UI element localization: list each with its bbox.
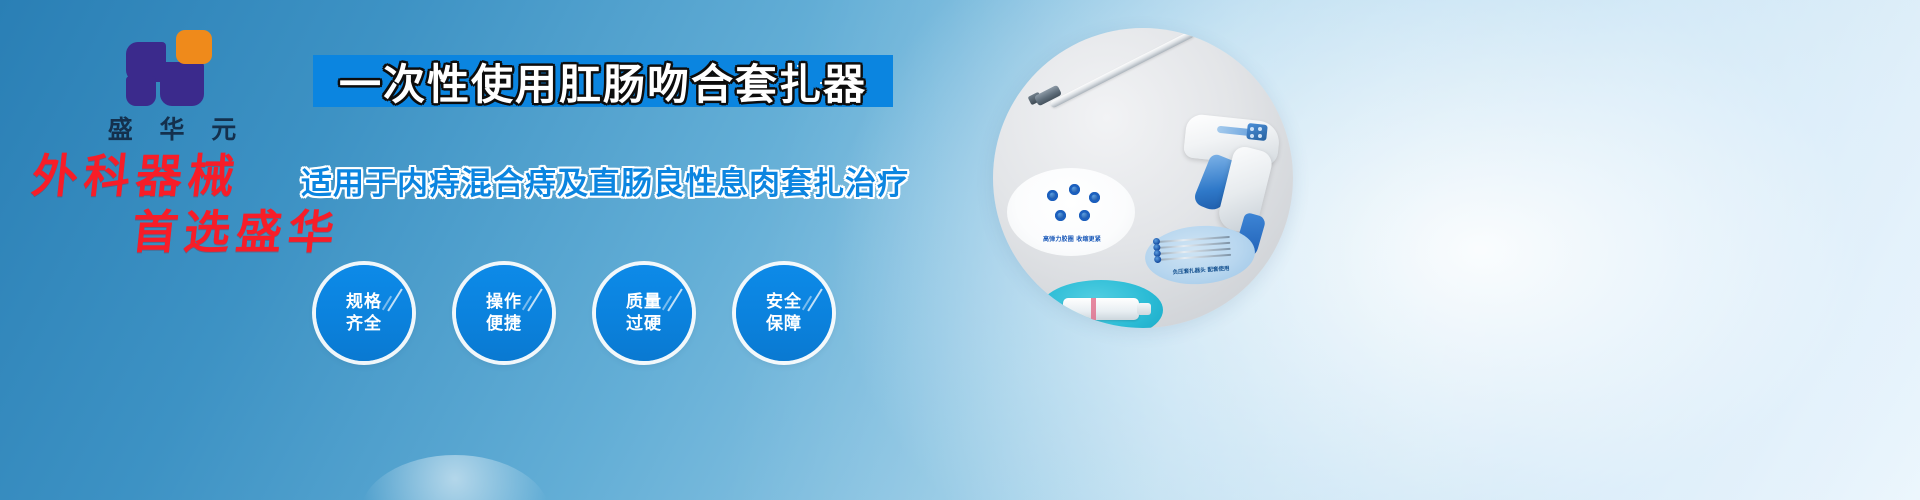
subtitle-text: 适用于内痔混合痔及直肠良性息肉套扎治疗 [290, 158, 920, 203]
feature-badge-list: 规格 齐全 操作 便捷 质量 过硬 安全 保障 [316, 265, 832, 361]
logo-text: 盛 华 元 [72, 110, 272, 146]
badge-line-2: 齐全 [346, 313, 382, 335]
rubber-band-icon [1089, 192, 1100, 203]
product-photo[interactable]: 高弹力胶圈 收缩更紧 负压套扎器头 配套使用 [993, 28, 1293, 328]
ligator-head-body [1063, 298, 1139, 320]
rubber-band-icon [1055, 210, 1066, 221]
background-flourish [360, 455, 550, 500]
badge-line-2: 过硬 [626, 313, 662, 335]
badge-line-1: 规格 [346, 291, 382, 313]
rubber-band-icon [1069, 184, 1080, 195]
calligraphy-line-2: 首选盛华 [129, 204, 419, 260]
brand-logo[interactable]: 盛 华 元 [72, 28, 272, 146]
device-button-dot [1258, 127, 1262, 131]
badge-line-1: 安全 [766, 291, 802, 313]
rubber-bands-caption: 高弹力胶圈 收缩更紧 [1013, 234, 1131, 243]
logo-shape-accent [176, 30, 212, 64]
feature-badge[interactable]: 规格 齐全 [316, 265, 412, 361]
feature-badge[interactable]: 安全 保障 [736, 265, 832, 361]
applicator-caption: 负压套扎器头 配套使用 [1146, 262, 1256, 278]
rubber-band-icon [1047, 190, 1058, 201]
feature-badge[interactable]: 质量 过硬 [596, 265, 692, 361]
device-button-dot [1250, 127, 1254, 131]
device-shaft [1049, 30, 1195, 109]
headline-title: 一次性使用肛肠吻合套扎器 [313, 50, 893, 112]
ligator-head-inset [1039, 280, 1163, 328]
badge-line-2: 保障 [766, 313, 802, 335]
rubber-band-icon [1079, 210, 1090, 221]
applicator-head-icon [1154, 256, 1161, 263]
logo-shape-right [160, 62, 204, 106]
logo-mark-icon [126, 28, 218, 106]
device-button-pad [1246, 123, 1268, 141]
ligator-head-ring [1091, 298, 1096, 320]
badge-line-1: 操作 [486, 291, 522, 313]
promo-banner: 盛 华 元 外科器械 首选盛华 一次性使用肛肠吻合套扎器 适用于内痔混合痔及直肠… [0, 0, 1920, 500]
rubber-bands-inset: 高弹力胶圈 收缩更紧 [1007, 168, 1135, 256]
logo-shape-bottom [126, 76, 156, 106]
device-button-dot [1258, 134, 1262, 138]
ligator-head-tip [1137, 303, 1151, 315]
badge-line-2: 便捷 [486, 313, 522, 335]
feature-badge[interactable]: 操作 便捷 [456, 265, 552, 361]
badge-line-1: 质量 [626, 291, 662, 313]
applicator-inset: 负压套扎器头 配套使用 [1143, 222, 1257, 288]
applicator-rod-icon [1159, 254, 1231, 261]
device-button-dot [1250, 134, 1254, 138]
